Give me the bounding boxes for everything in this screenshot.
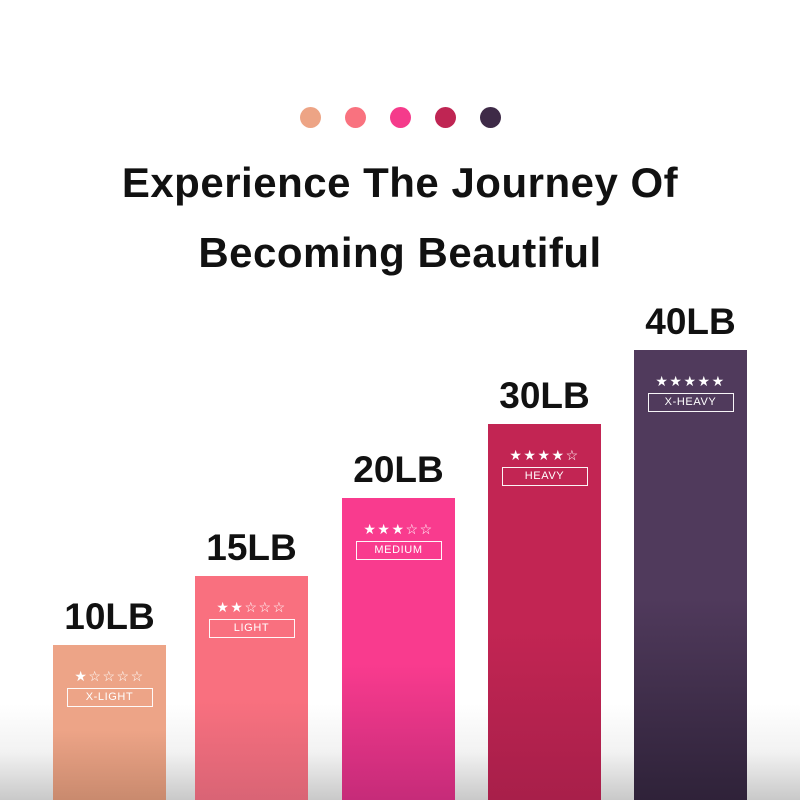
bar-rating-badge: ★★★★★X-HEAVY: [648, 373, 734, 412]
bar-rating-badge: ★☆☆☆☆X-LIGHT: [67, 668, 153, 707]
bar-x-heavy[interactable]: [634, 350, 747, 800]
bar-weight-label: 30LB: [499, 377, 589, 414]
star-rating-icon: ★★★★☆: [502, 447, 588, 463]
bar-group[interactable]: 30LB★★★★☆HEAVY: [488, 364, 601, 800]
bar-weight-label: 15LB: [206, 529, 296, 566]
bar-rating-badge: ★★★★☆HEAVY: [502, 447, 588, 486]
bar-group[interactable]: 10LB★☆☆☆☆X-LIGHT: [53, 585, 166, 800]
product-infographic: Experience The Journey Of Becoming Beaut…: [0, 0, 800, 800]
bar-level-label: MEDIUM: [356, 541, 442, 560]
star-rating-icon: ★★☆☆☆: [209, 599, 295, 615]
bar-weight-label: 40LB: [645, 303, 735, 340]
bar-group[interactable]: 40LB★★★★★X-HEAVY: [634, 290, 747, 800]
bar-level-label: LIGHT: [209, 619, 295, 638]
bar-level-label: HEAVY: [502, 467, 588, 486]
bar-level-label: X-HEAVY: [648, 393, 734, 412]
star-rating-icon: ★☆☆☆☆: [67, 668, 153, 684]
bar-group[interactable]: 15LB★★☆☆☆LIGHT: [195, 516, 308, 800]
star-rating-icon: ★★★☆☆: [356, 521, 442, 537]
bar-level-label: X-LIGHT: [67, 688, 153, 707]
bar-weight-label: 20LB: [353, 451, 443, 488]
resistance-bar-chart: 10LB★☆☆☆☆X-LIGHT15LB★★☆☆☆LIGHT20LB★★★☆☆M…: [0, 0, 800, 800]
star-rating-icon: ★★★★★: [648, 373, 734, 389]
bar-group[interactable]: 20LB★★★☆☆MEDIUM: [342, 438, 455, 800]
bar-rating-badge: ★★☆☆☆LIGHT: [209, 599, 295, 638]
bar-weight-label: 10LB: [64, 598, 154, 635]
bar-rating-badge: ★★★☆☆MEDIUM: [356, 521, 442, 560]
